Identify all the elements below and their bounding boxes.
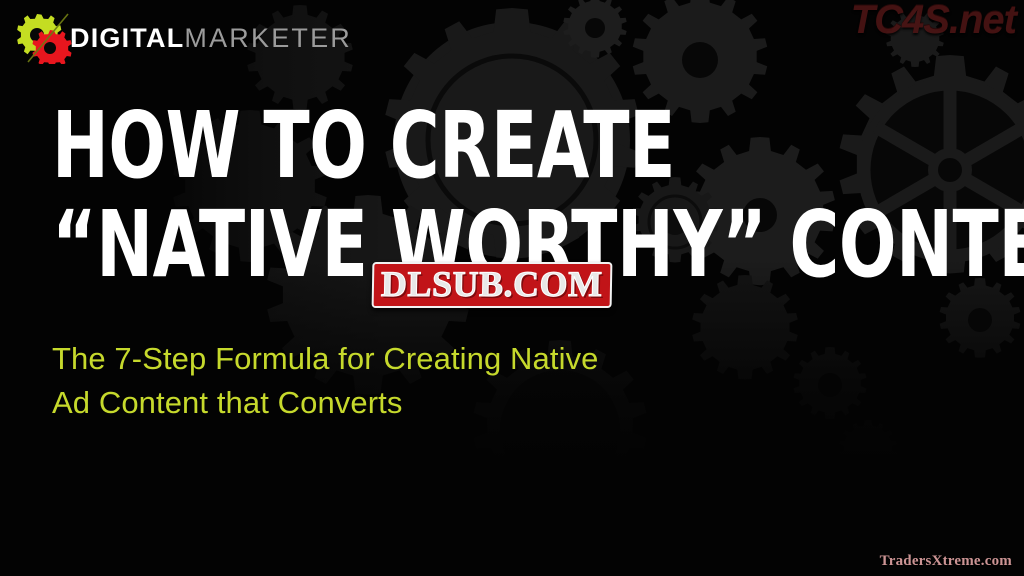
logo-light-text: MARKETER: [184, 23, 352, 53]
page-title: HOW TO CREATE “NATIVE WORTHY” CONTENT: [52, 106, 932, 286]
subtitle-line-2: Ad Content that Converts: [52, 381, 692, 425]
subtitle-line-1: The 7-Step Formula for Creating Native: [52, 337, 692, 381]
watermark-center: DLSUB.COM: [372, 262, 612, 308]
logo-bold-text: DIGITAL: [70, 23, 184, 53]
logo-wordmark: DIGITALMARKETER: [70, 25, 352, 52]
gears-logo-icon: [16, 12, 74, 64]
watermark-bottom-right: TradersXtreme.com: [880, 553, 1012, 570]
presentation-slide: DIGITALMARKETER HOW TO CREATE “NATIVE WO…: [0, 0, 1024, 576]
page-subtitle: The 7-Step Formula for Creating Native A…: [52, 337, 692, 425]
watermark-center-text: DLSUB.COM: [381, 266, 603, 302]
digitalmarketer-logo: DIGITALMARKETER: [16, 12, 352, 64]
watermark-top-right: TC4S.net: [851, 0, 1016, 43]
headline-line-1: HOW TO CREATE: [52, 106, 774, 187]
